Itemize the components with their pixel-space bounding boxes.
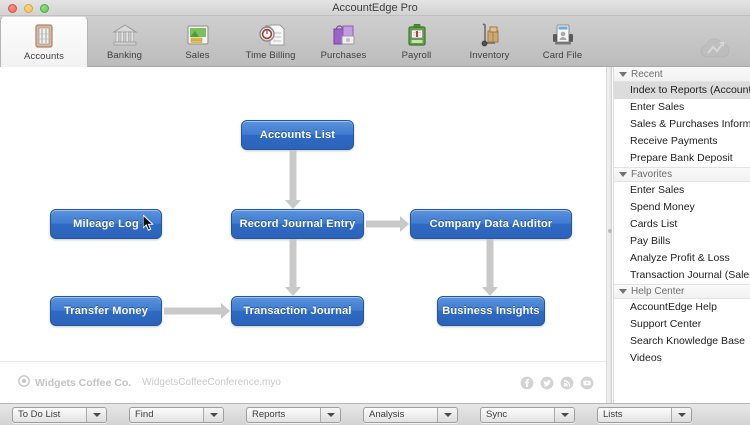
card-file-icon: [549, 21, 577, 49]
command-button-label: Analysis: [364, 408, 437, 422]
facebook-icon[interactable]: [520, 376, 534, 390]
banking-icon: [111, 21, 139, 49]
sidebar-splitter[interactable]: [606, 67, 612, 403]
toolbar-tab-accounts[interactable]: Accounts: [0, 16, 88, 67]
sidebar-group-header-favorites[interactable]: Favorites: [614, 167, 750, 182]
sidebar-item[interactable]: Analyze Profit & Loss: [614, 250, 750, 267]
flow-node-transfer-money[interactable]: Transfer Money: [50, 296, 162, 326]
sidebar-item[interactable]: Search Knowledge Base: [614, 333, 750, 350]
toolbar-tab-inventory[interactable]: Inventory: [453, 16, 526, 67]
youtube-icon[interactable]: [580, 376, 594, 390]
sidebar-item[interactable]: Receive Payments: [614, 133, 750, 150]
sidebar-item[interactable]: Prepare Bank Deposit: [614, 150, 750, 167]
sidebar-item[interactable]: Sales & Purchases Informa: [614, 116, 750, 133]
flow-arrow-company-data-auditor-to-business-insights: [480, 239, 500, 296]
flow-arrow-record-journal-entry-to-transaction-journal: [283, 239, 303, 296]
chevron-down-icon[interactable]: [86, 408, 106, 422]
sidebar-item[interactable]: Support Center: [614, 316, 750, 333]
company-file-name: WidgetsCoffeeConference.myo: [142, 377, 281, 388]
window-title: AccountEdge Pro: [0, 1, 750, 16]
toolbar-tab-banking[interactable]: Banking: [88, 16, 161, 67]
flow-node-business-insights[interactable]: Business Insights: [437, 296, 545, 326]
sidebar-item[interactable]: Index to Reports (Accounts: [614, 82, 750, 99]
sidebar-item[interactable]: Enter Sales: [614, 182, 750, 199]
sidebar-item[interactable]: Transaction Journal (Sales: [614, 267, 750, 284]
chevron-down-icon: [619, 289, 627, 294]
accountedge-window: AccountEdge Pro Accounts: [0, 0, 750, 425]
accounts-command-centre-canvas: Accounts ListMileage LogRecord Journal E…: [0, 67, 606, 403]
toolbar-tab-label: Sales: [185, 50, 209, 61]
bottom-command-bar: To Do ListFindReportsAnalysisSyncLists: [0, 403, 750, 425]
splitter-handle-dot: [608, 229, 612, 233]
rss-icon[interactable]: [560, 376, 574, 390]
toolbar-tab-label: Time Billing: [246, 50, 296, 61]
sidebar-item[interactable]: Cards List: [614, 216, 750, 233]
command-button-label: Sync: [481, 408, 554, 422]
command-button-to-do-list[interactable]: To Do List: [12, 407, 107, 423]
sidebar-item[interactable]: Enter Sales: [614, 99, 750, 116]
chevron-down-icon[interactable]: [203, 408, 223, 422]
command-button-lists[interactable]: Lists: [597, 407, 692, 423]
flow-arrow-accounts-list-to-record-journal-entry: [283, 150, 303, 209]
right-sidebar: RecentIndex to Reports (AccountsEnter Sa…: [613, 67, 750, 403]
chevron-down-icon: [619, 172, 627, 177]
sidebar-item[interactable]: Spend Money: [614, 199, 750, 216]
payroll-icon: [403, 21, 431, 49]
flow-node-transaction-journal[interactable]: Transaction Journal: [231, 296, 364, 326]
toolbar-tab-card-file[interactable]: Card File: [526, 16, 599, 67]
main-toolbar: Accounts Banking: [0, 16, 750, 67]
chevron-down-icon[interactable]: [320, 408, 340, 422]
sidebar-group-header-help-center[interactable]: Help Center: [614, 284, 750, 299]
command-button-reports[interactable]: Reports: [246, 407, 341, 423]
flow-node-company-data-auditor[interactable]: Company Data Auditor: [410, 209, 572, 239]
cloud-chart-icon[interactable]: [696, 35, 736, 63]
chevron-down-icon[interactable]: [554, 408, 574, 422]
command-button-sync[interactable]: Sync: [480, 407, 575, 423]
toolbar-tab-label: Inventory: [470, 50, 510, 61]
toolbar-tab-label: Payroll: [402, 50, 432, 61]
sidebar-group-label: Favorites: [631, 169, 672, 180]
command-button-label: Lists: [598, 408, 671, 422]
flow-node-accounts-list[interactable]: Accounts List: [241, 120, 354, 150]
sidebar-item[interactable]: Pay Bills: [614, 233, 750, 250]
time-billing-icon: [257, 21, 285, 49]
purchases-icon: [330, 21, 358, 49]
toolbar-tab-label: Accounts: [24, 51, 64, 62]
social-links: [520, 376, 594, 390]
chevron-down-icon[interactable]: [671, 408, 691, 422]
toolbar-tab-purchases[interactable]: Purchases: [307, 16, 380, 67]
toolbar-tab-label: Banking: [107, 50, 142, 61]
sidebar-group-header-recent[interactable]: Recent: [614, 67, 750, 82]
sidebar-group-label: Help Center: [631, 286, 684, 297]
sales-icon: [184, 21, 212, 49]
flow-arrow-record-journal-entry-to-company-data-auditor: [366, 214, 409, 234]
accounts-icon: [30, 22, 58, 50]
sidebar-item[interactable]: Videos: [614, 350, 750, 367]
flow-node-record-journal-entry[interactable]: Record Journal Entry: [231, 209, 364, 239]
sidebar-item[interactable]: AccountEdge Help: [614, 299, 750, 316]
toolbar-tab-label: Card File: [543, 50, 582, 61]
inventory-icon: [476, 21, 504, 49]
mouse-cursor: [143, 215, 155, 232]
toolbar-tab-time-billing[interactable]: Time Billing: [234, 16, 307, 67]
company-badge-icon: [18, 374, 30, 392]
twitter-icon[interactable]: [540, 376, 554, 390]
sidebar-group-label: Recent: [631, 69, 663, 80]
command-button-label: Find: [130, 408, 203, 422]
sidebar-scrollbar[interactable]: [746, 67, 750, 403]
command-button-find[interactable]: Find: [129, 407, 224, 423]
canvas-footer: Widgets Coffee Co. WidgetsCoffeeConferen…: [0, 361, 606, 403]
window-title-bar: AccountEdge Pro: [0, 0, 750, 16]
flow-arrow-transfer-money-to-transaction-journal: [164, 301, 230, 321]
chevron-down-icon[interactable]: [437, 408, 457, 422]
toolbar-tab-payroll[interactable]: Payroll: [380, 16, 453, 67]
command-button-analysis[interactable]: Analysis: [363, 407, 458, 423]
company-info: Widgets Coffee Co. WidgetsCoffeeConferen…: [18, 374, 281, 392]
toolbar-tab-label: Purchases: [321, 50, 367, 61]
command-button-label: To Do List: [13, 408, 86, 422]
chevron-down-icon: [619, 72, 627, 77]
toolbar-tab-sales[interactable]: Sales: [161, 16, 234, 67]
sidebar-content: RecentIndex to Reports (AccountsEnter Sa…: [614, 67, 750, 367]
company-name: Widgets Coffee Co.: [35, 377, 131, 389]
command-button-label: Reports: [247, 408, 320, 422]
command-buttons: To Do ListFindReportsAnalysisSyncLists: [12, 407, 692, 423]
